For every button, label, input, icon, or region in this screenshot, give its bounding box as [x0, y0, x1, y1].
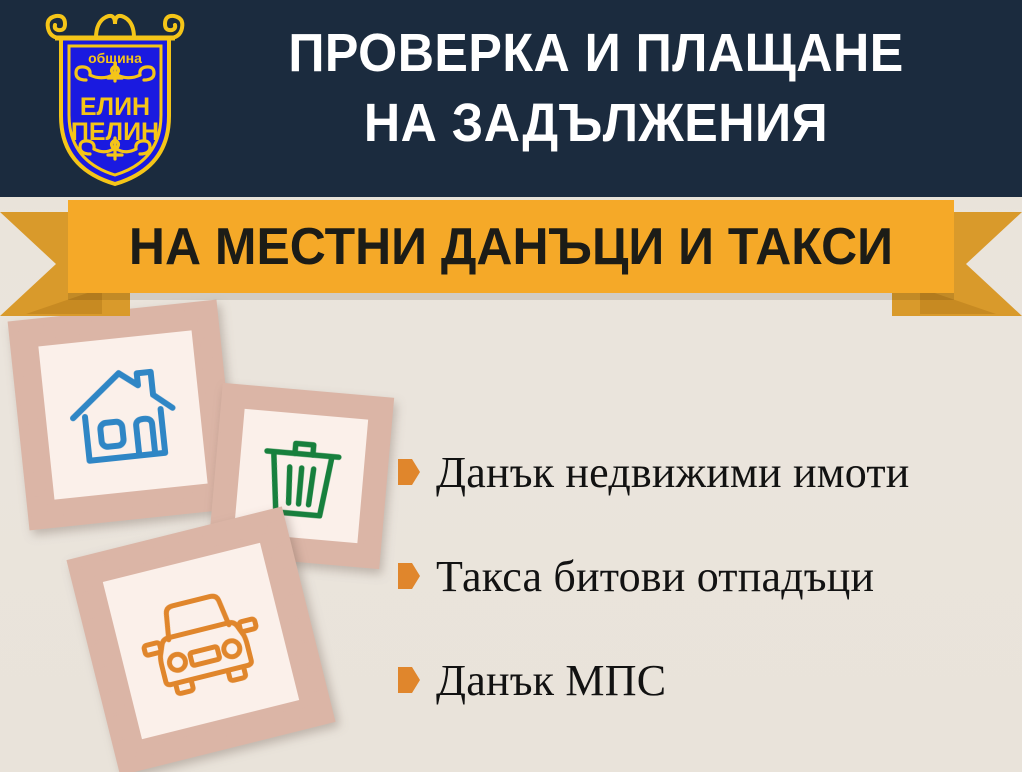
stamp-house: [8, 300, 239, 531]
page-title-line2: НА ЗАДЪЛЖЕНИЯ: [215, 88, 978, 158]
bullet-arrow-icon: [398, 459, 420, 485]
house-icon: [8, 300, 239, 531]
list-item-label: Данък МПС: [436, 655, 666, 706]
ribbon-body: НА МЕСТНИ ДАНЪЦИ И ТАКСИ: [68, 200, 954, 293]
subtitle-ribbon: НА МЕСТНИ ДАНЪЦИ И ТАКСИ: [0, 196, 1022, 316]
list-item-label: Данък недвижими имоти: [436, 447, 910, 498]
services-list: Данък недвижими имоти Такса битови отпад…: [398, 420, 1018, 732]
list-item-label: Такса битови отпадъци: [436, 551, 874, 602]
list-item[interactable]: Данък недвижими имоти: [398, 420, 1018, 524]
bullet-arrow-icon: [398, 563, 420, 589]
list-item[interactable]: Такса битови отпадъци: [398, 524, 1018, 628]
ribbon-label: НА МЕСТНИ ДАНЪЦИ И ТАКСИ: [129, 219, 893, 275]
logo-elin-text: ЕЛИН: [80, 93, 150, 121]
bullet-arrow-icon: [398, 667, 420, 693]
coat-of-arms-logo: община ЕЛИН ПЕЛИН: [36, 8, 194, 190]
ribbon-body-shadow: [68, 293, 954, 300]
page-title-line1: ПРОВЕРКА И ПЛАЩАНЕ: [288, 23, 903, 83]
poster-canvas: община ЕЛИН ПЕЛИН: [0, 0, 1022, 772]
stamp-collage: [0, 290, 420, 772]
list-item[interactable]: Данък МПС: [398, 628, 1018, 732]
page-title: ПРОВЕРКА И ПЛАЩАНЕ НА ЗАДЪЛЖЕНИЯ: [215, 18, 978, 158]
